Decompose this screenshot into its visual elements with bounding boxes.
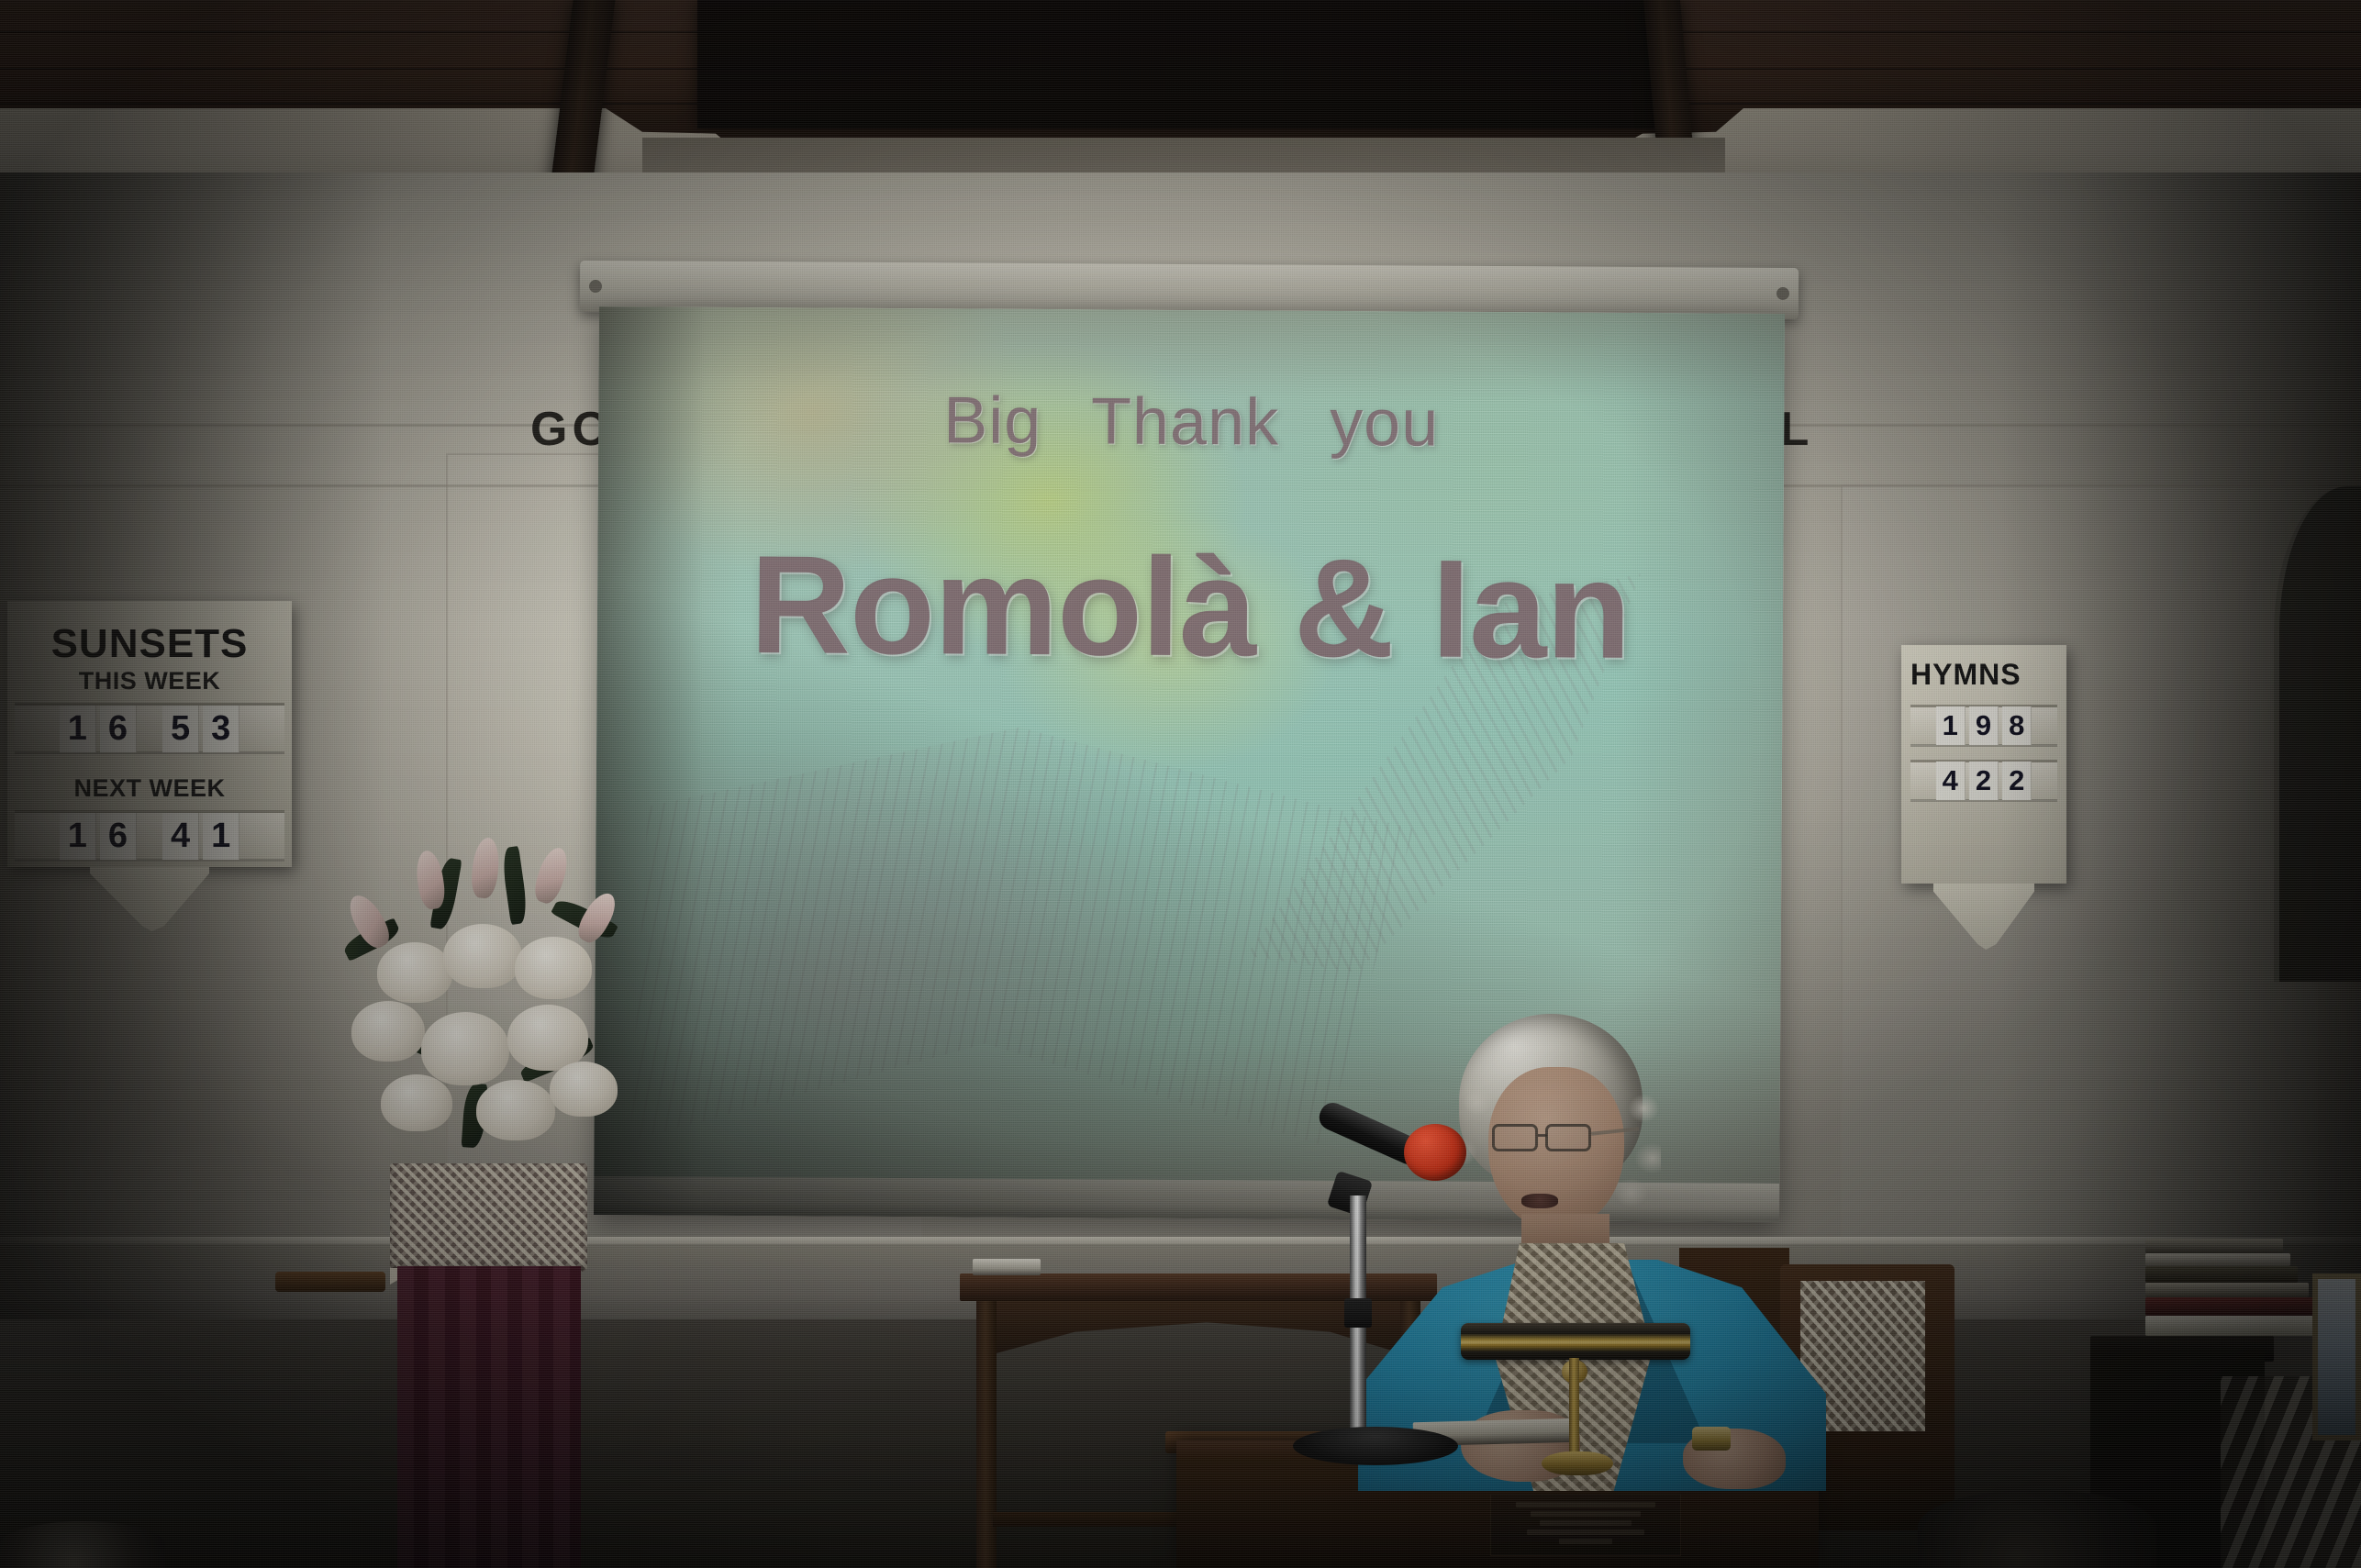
ceiling-shadow [697, 0, 1661, 128]
photograph-chapel-presentation: GO EL SUNSETS THIS WEEK 1 6 5 3 NEXT WEE… [0, 0, 2361, 1568]
slide-title: Romolà & Ian [597, 524, 1784, 692]
congregation-head-center [1918, 1490, 2156, 1568]
slide-heading: Big Thank you [598, 381, 1784, 463]
congregation-head-left [0, 1521, 165, 1568]
pew-left [275, 1266, 332, 1568]
table-book [973, 1259, 1041, 1275]
flower-pedestal [390, 1163, 587, 1568]
microphone [1289, 1124, 1491, 1463]
digit-tile: 2 [1969, 762, 1999, 800]
glasses-icon [1545, 1124, 1591, 1151]
microphone-windscreen [1404, 1124, 1466, 1181]
glasses-icon [1492, 1124, 1538, 1151]
lamp-shade [1461, 1323, 1690, 1360]
pulpit-lamp [1461, 1323, 1699, 1477]
digit-tile: 4 [1936, 762, 1966, 800]
pulpit-plaque [1490, 1494, 1681, 1556]
microphone-base [1293, 1427, 1458, 1465]
pedestal-burgundy-drape [397, 1266, 581, 1568]
digit-tile: 9 [1969, 706, 1999, 745]
lily-flower-arrangement [326, 821, 647, 1179]
framed-picture [2312, 1273, 2361, 1440]
lamp-base [1542, 1451, 1613, 1475]
digit-tile: 1 [1936, 706, 1966, 745]
pew-left-rail [275, 1272, 385, 1292]
pedestal-lace-topper [390, 1163, 587, 1272]
